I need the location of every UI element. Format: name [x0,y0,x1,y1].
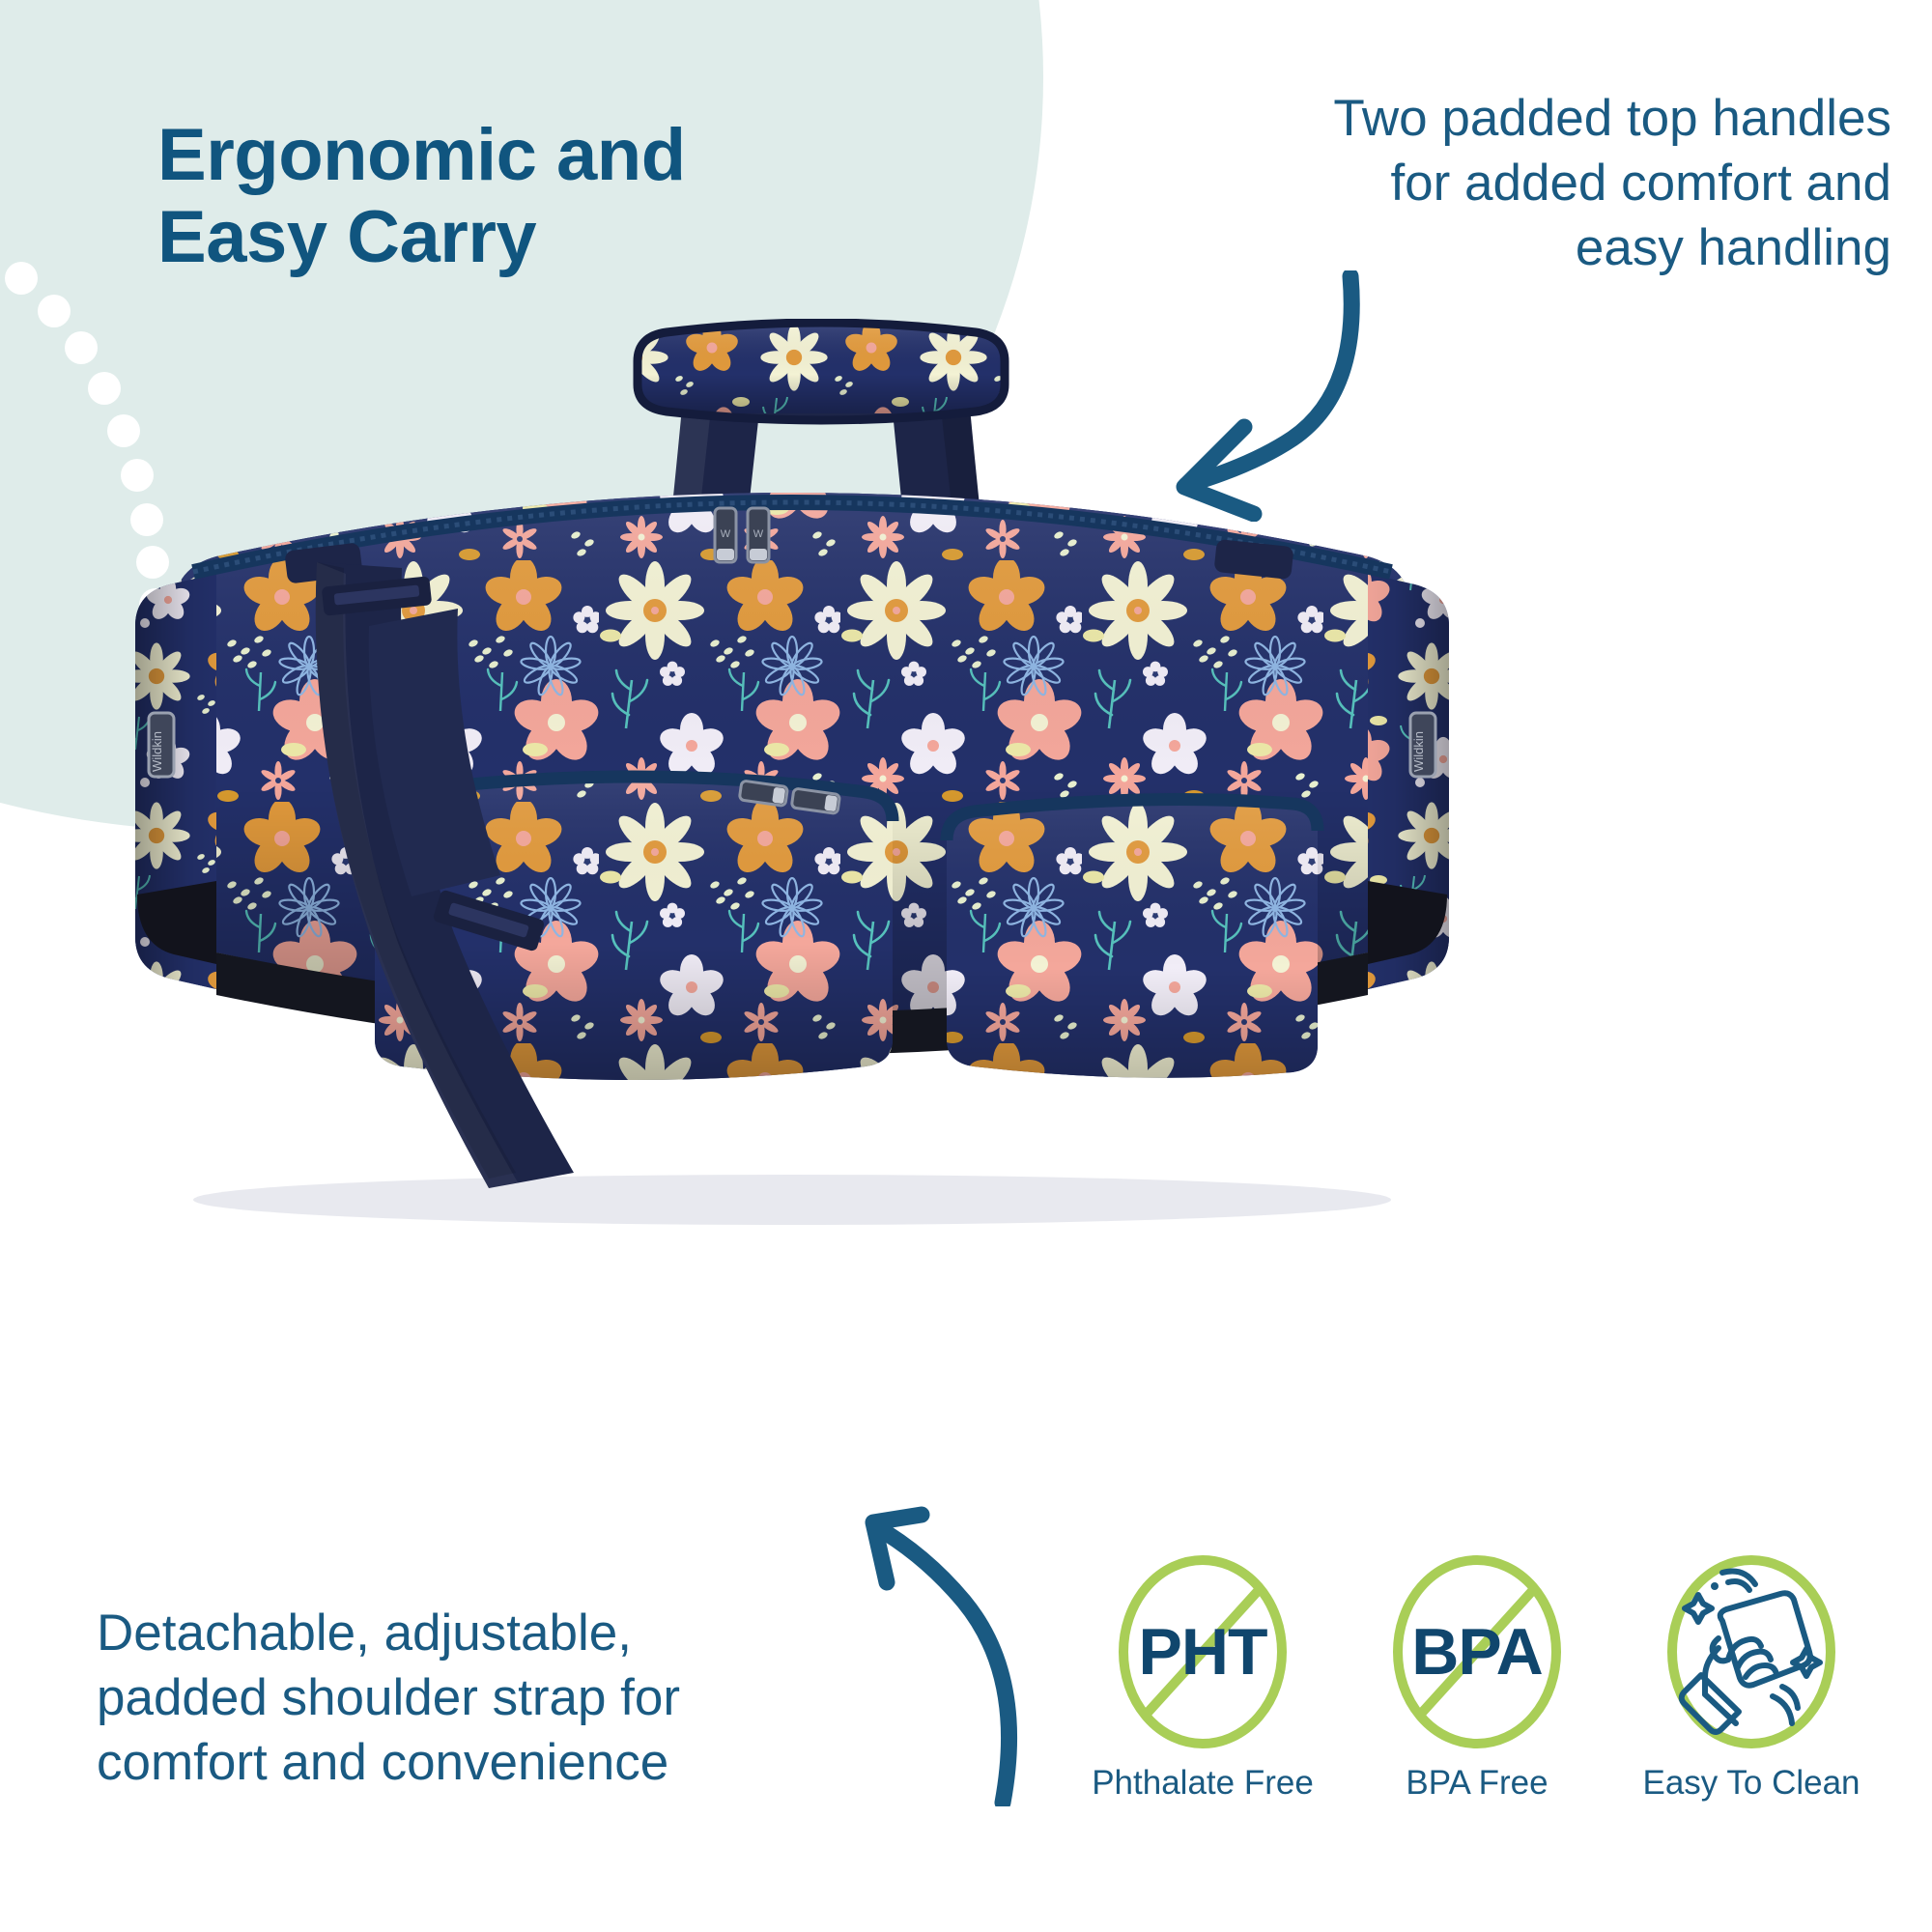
callout-bottom-line-1: Detachable, adjustable, [97,1602,773,1666]
badge-easy-to-clean: Easy To Clean [1650,1555,1853,1884]
no-bpa-icon: BPA [1390,1555,1564,1748]
bag-shadow [193,1175,1391,1225]
hand-wiping-cloth-icon [1664,1555,1838,1748]
badge-label: BPA Free [1406,1764,1548,1803]
callout-shoulder-strap: Detachable, adjustable, padded shoulder … [97,1602,773,1795]
bag-front-right-pocket [937,782,1343,1121]
no-phthalate-icon: PHT [1116,1555,1290,1748]
badge-mark-text: BPA [1390,1555,1564,1748]
certification-badges: PHT Phthalate Free BPA BPA Free [1101,1555,1913,1884]
bag-right-end-zipper-pull[interactable]: Wildkin [1410,713,1435,777]
arrow-to-strap-icon [696,1478,1043,1806]
bag-padded-handle-grip [638,323,1005,420]
callout-top-handles: Two padded top handles for added comfort… [1157,87,1891,280]
callout-top-line-2: for added comfort and [1157,152,1891,216]
page-title: Ergonomic and Easy Carry [157,114,776,278]
brand-tag-right: Wildkin [1411,731,1426,772]
callout-top-line-1: Two padded top handles [1157,87,1891,152]
badge-bpa-free: BPA BPA Free [1376,1555,1578,1884]
badge-phthalate-free: PHT Phthalate Free [1101,1555,1304,1884]
callout-bottom-line-3: comfort and convenience [97,1731,773,1796]
callout-bottom-line-2: padded shoulder strap for [97,1666,773,1731]
bag-right-end-panel [1352,560,1459,1005]
bag-left-end-zipper-pull[interactable]: Wildkin [149,713,174,777]
headline-line-2: Easy Carry [157,196,776,278]
svg-text:W: W [721,528,731,540]
brand-tag-left: Wildkin [150,731,164,772]
bag-left-end-panel [126,560,232,1005]
badge-label: Phthalate Free [1092,1764,1314,1803]
badge-mark-text [1664,1555,1838,1748]
arrow-to-handles-icon [1111,270,1459,522]
badge-mark-text: PHT [1116,1555,1290,1748]
badge-label: Easy To Clean [1642,1764,1860,1803]
infographic-canvas: Ergonomic and Easy Carry [0,0,1932,1932]
headline-line-1: Ergonomic and [157,114,776,196]
svg-text:W: W [753,528,764,540]
